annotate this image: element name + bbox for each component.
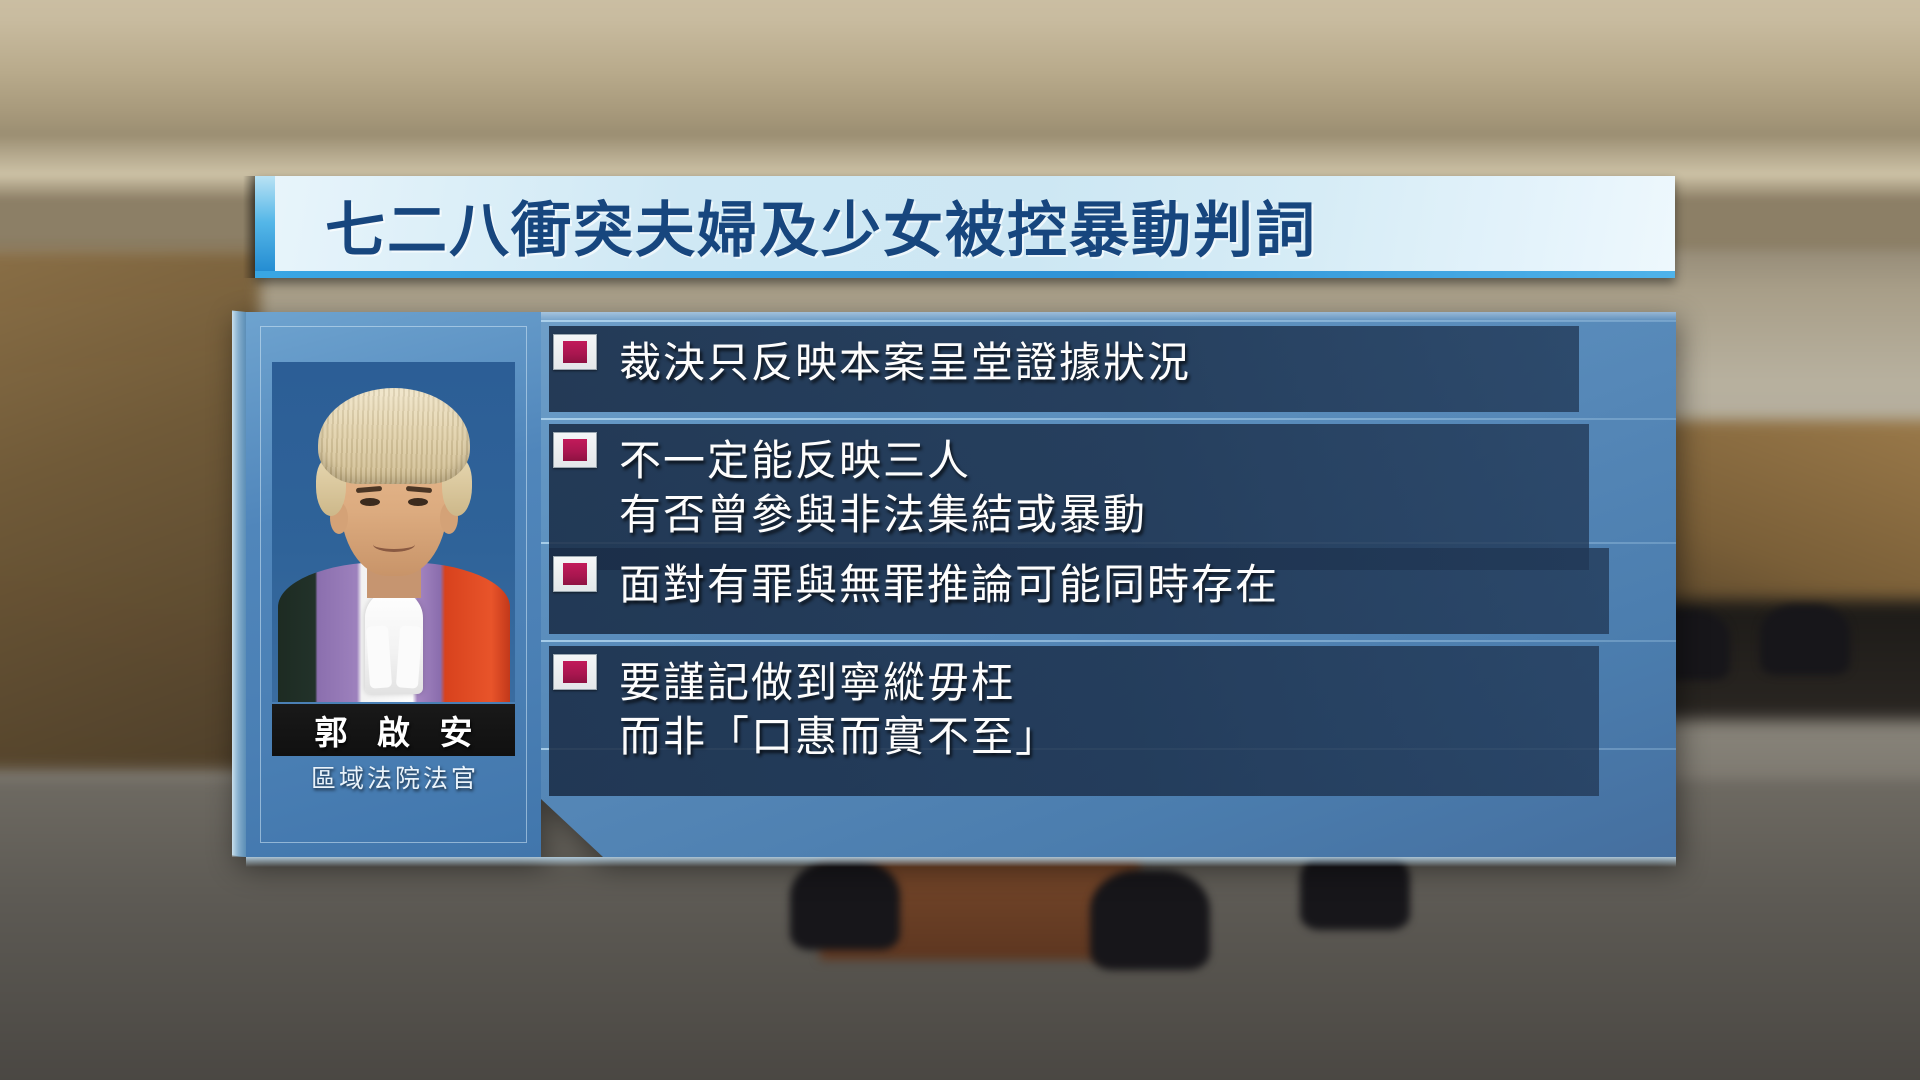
judge-figure — [272, 362, 515, 702]
bullet-text: 面對有罪與無罪推論可能同時存在 — [619, 558, 1303, 612]
body-panel-bottom-edge — [246, 857, 1676, 867]
background-wood-panel-left — [0, 250, 260, 770]
graphic-title-bar: 七二八衝突夫婦及少女被控暴動判詞 — [255, 176, 1675, 278]
bullet-row: 要謹記做到寧縱毋枉 而非「口惠而實不至」 — [541, 646, 1611, 796]
broadcast-graphic-screen: 七二八衝突夫婦及少女被控暴動判詞 — [0, 0, 1920, 1080]
judge-jabot — [365, 590, 423, 694]
judge-eye-left — [360, 498, 380, 506]
bullet-text: 裁決只反映本案呈堂證據狀況 — [619, 336, 1215, 390]
bullet-text: 要謹記做到寧縱毋枉 而非「口惠而實不至」 — [619, 656, 1083, 764]
graphic-body-panel: 郭 啟 安 區域法院法官 裁決只反映本案呈堂證據狀況 — [246, 312, 1676, 857]
bullet-list-panel: 裁決只反映本案呈堂證據狀況 不一定能反映三人 有否曾參與非法集結或暴動 面對有罪… — [541, 312, 1676, 857]
speaker-role: 區域法院法官 — [272, 759, 515, 795]
judge-mouth — [373, 537, 415, 552]
judge-wig — [318, 388, 470, 484]
bullet-rows: 裁決只反映本案呈堂證據狀況 不一定能反映三人 有否曾參與非法集結或暴動 面對有罪… — [541, 312, 1676, 857]
background-chair — [1760, 605, 1850, 675]
speaker-panel: 郭 啟 安 區域法院法官 — [246, 312, 541, 857]
bullet-text: 不一定能反映三人 有否曾參與非法集結或暴動 — [619, 434, 1171, 542]
page-title: 七二八衝突夫婦及少女被控暴動判詞 — [325, 182, 1317, 269]
square-bullet-icon — [553, 432, 597, 468]
body-panel-left-bevel — [232, 312, 246, 857]
background-chair — [790, 860, 900, 950]
background-chair — [1090, 870, 1210, 970]
square-bullet-icon — [553, 556, 597, 592]
square-bullet-icon — [553, 654, 597, 690]
square-bullet-icon — [553, 334, 597, 370]
judge-eye-right — [408, 498, 428, 506]
speaker-name: 郭 啟 安 — [306, 706, 482, 754]
bullet-row: 面對有罪與無罪推論可能同時存在 — [541, 548, 1621, 634]
bullet-row: 裁決只反映本案呈堂證據狀況 — [541, 326, 1591, 412]
judge-portrait-icon — [272, 362, 515, 702]
speaker-name-plate: 郭 啟 安 — [272, 704, 515, 756]
title-accent-stripe — [255, 176, 275, 278]
title-bar-surface: 七二八衝突夫婦及少女被控暴動判詞 — [255, 176, 1675, 278]
